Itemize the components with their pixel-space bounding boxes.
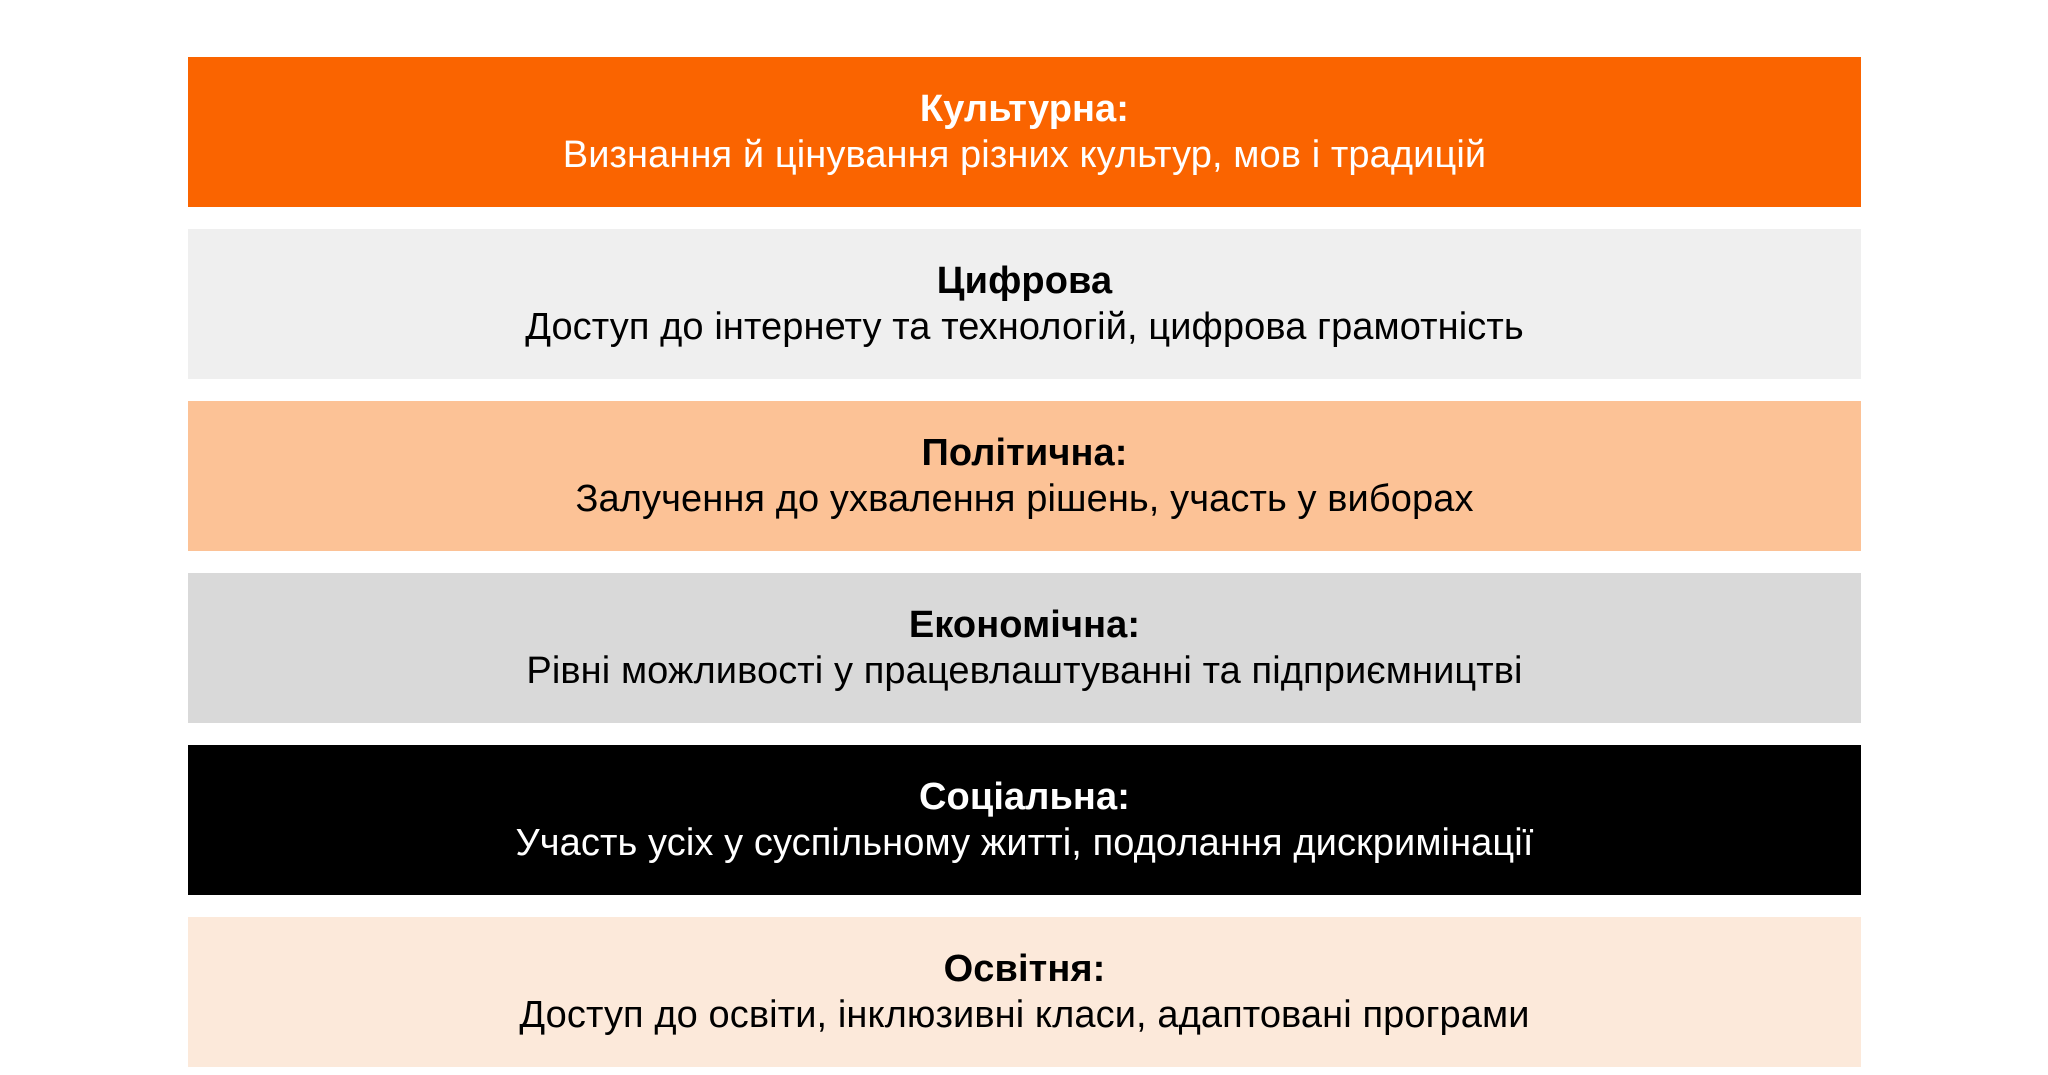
band-description: Доступ до інтернету та технологій, цифро…: [525, 305, 1524, 349]
band-cultural[interactable]: Культурна: Визнання й цінування різних к…: [188, 57, 1861, 207]
band-social[interactable]: Соціальна: Участь усіх у суспільному жит…: [188, 745, 1861, 895]
band-description: Доступ до освіти, інклюзивні класи, адап…: [519, 993, 1529, 1037]
band-title: Освітня:: [944, 947, 1106, 991]
band-title: Політична:: [921, 431, 1127, 475]
band-title: Соціальна:: [919, 775, 1130, 819]
band-list: Культурна: Визнання й цінування різних к…: [188, 57, 1861, 1067]
band-digital[interactable]: Цифрова Доступ до інтернету та технологі…: [188, 229, 1861, 379]
band-title: Економічна:: [909, 603, 1140, 647]
band-political[interactable]: Політична: Залучення до ухвалення рішень…: [188, 401, 1861, 551]
band-educational[interactable]: Освітня: Доступ до освіти, інклюзивні кл…: [188, 917, 1861, 1067]
band-description: Рівні можливості у працевлаштуванні та п…: [526, 649, 1522, 693]
band-economic[interactable]: Економічна: Рівні можливості у працевлаш…: [188, 573, 1861, 723]
band-title: Цифрова: [937, 259, 1113, 303]
band-description: Залучення до ухвалення рішень, участь у …: [575, 477, 1473, 521]
slide-canvas: Культурна: Визнання й цінування різних к…: [0, 0, 2048, 1075]
band-description: Участь усіх у суспільному житті, подолан…: [516, 821, 1534, 865]
band-description: Визнання й цінування різних культур, мов…: [563, 133, 1486, 177]
band-title: Культурна:: [920, 87, 1129, 131]
